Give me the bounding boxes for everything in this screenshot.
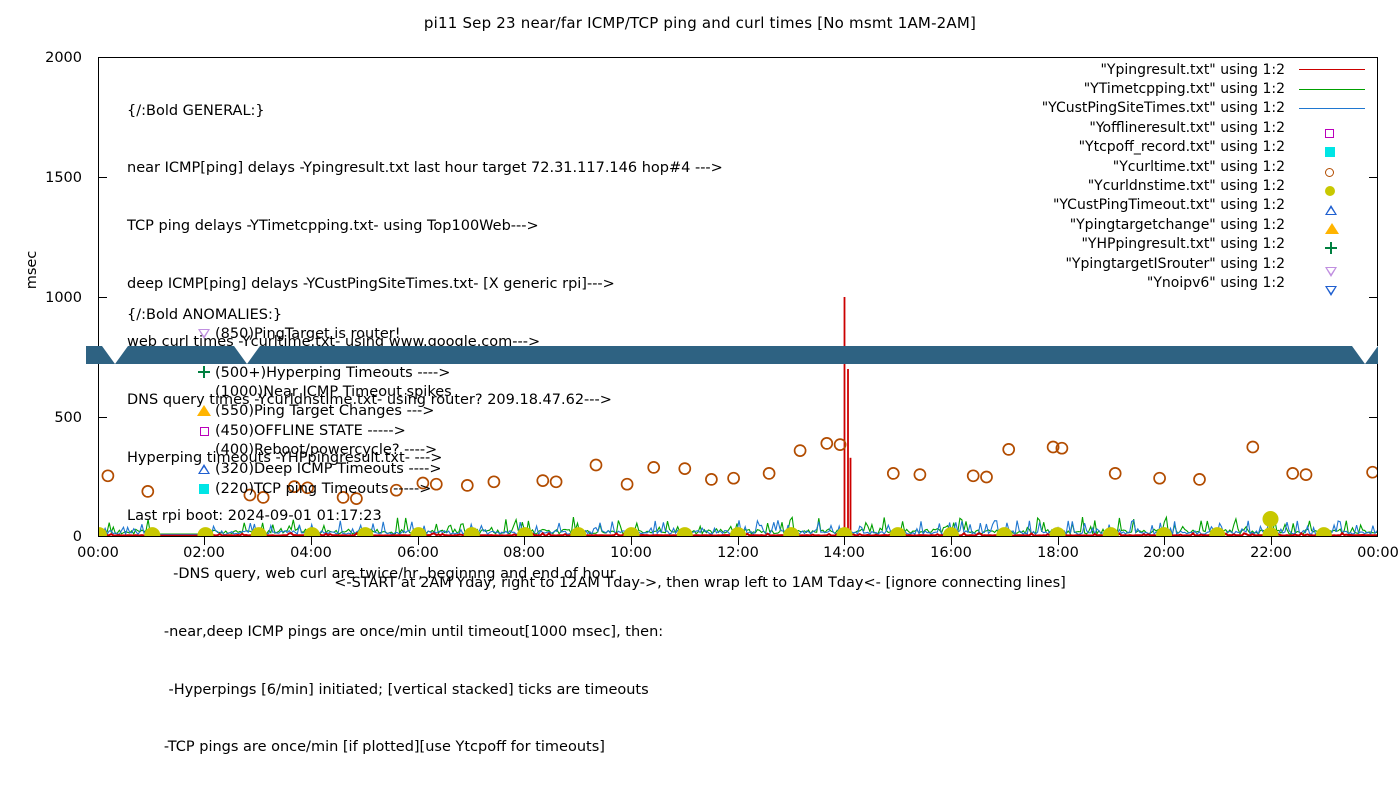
legend-label: "YTimetcpping.txt" using 1:2: [1084, 81, 1285, 97]
legend-key: [1291, 99, 1375, 118]
legend-key: [1291, 196, 1375, 215]
open-triangle-up-icon: [193, 461, 215, 480]
legend-entry: "YCustPingTimeout.txt" using 1:2: [905, 196, 1375, 215]
legend-key: [1291, 138, 1375, 157]
anomaly-label: (550)Ping Target Changes --->: [215, 403, 434, 419]
legend-label: "YCustPingSiteTimes.txt" using 1:2: [1042, 100, 1285, 116]
anomaly-label: (320)Deep ICMP Timeouts ---->: [215, 461, 442, 477]
x-tick-label: 22:00: [1226, 545, 1316, 561]
anomaly-item: (550)Ping Target Changes --->: [127, 402, 452, 421]
x-tick-label: 20:00: [1119, 545, 1209, 561]
legend-label: "Ynoipv6" using 1:2: [1147, 275, 1285, 291]
legend-entry: "YCustPingSiteTimes.txt" using 1:2: [905, 99, 1375, 118]
x-tick-label: 14:00: [799, 545, 889, 561]
legend-label: "Yofflineresult.txt" using 1:2: [1089, 120, 1285, 136]
legend-label: "Ycurltime.txt" using 1:2: [1113, 159, 1285, 175]
anomaly-item: (500+)Hyperping Timeouts ---->: [127, 364, 452, 383]
legend-entry: "YTimetcpping.txt" using 1:2: [905, 79, 1375, 98]
legend-label: "YpingtargetISrouter" using 1:2: [1065, 256, 1285, 272]
open-triangle-down-icon: [193, 326, 215, 345]
anomaly-label: (850)PingTarget is router!: [215, 326, 401, 342]
anomaly-item: (320)Deep ICMP Timeouts ---->: [127, 460, 452, 479]
y-tick-label: 0: [6, 529, 82, 545]
legend-label: "Ycurldnstime.txt" using 1:2: [1088, 178, 1285, 194]
open-triangle-down-icon: [1325, 282, 1337, 301]
general-line: -near,deep ICMP pings are once/min until…: [127, 623, 723, 642]
legend-label: "YCustPingTimeout.txt" using 1:2: [1053, 197, 1285, 213]
legend-key: [1291, 118, 1375, 137]
anomaly-label: (1000)Near ICMP Timeout spikes: [215, 384, 452, 400]
line-icon: [1299, 89, 1365, 90]
legend-entry: "YHPpingresult.txt" using 1:2: [905, 235, 1375, 254]
plus-icon: [193, 365, 215, 384]
filled-triangle-up-icon: [193, 403, 215, 422]
legend-key: [1291, 254, 1375, 273]
chart-legend: "Ypingresult.txt" using 1:2 "YTimetcppin…: [905, 60, 1375, 293]
anomaly-item: (1000)Near ICMP Timeout spikes: [127, 383, 452, 402]
legend-key: [1291, 235, 1375, 254]
legend-label: "Ytcpoff_record.txt" using 1:2: [1079, 139, 1285, 155]
x-tick-label: 18:00: [1013, 545, 1103, 561]
x-tick-label: 16:00: [906, 545, 996, 561]
y-tick-label: 1500: [6, 170, 82, 186]
chart-title: pi11 Sep 23 near/far ICMP/TCP ping and c…: [0, 14, 1400, 32]
line-icon: [1299, 69, 1365, 70]
general-line: near ICMP[ping] delays -Ypingresult.txt …: [127, 159, 723, 178]
anomaly-label: (220)TCP ping Timeouts ----->: [215, 481, 431, 497]
legend-label: "YHPpingresult.txt" using 1:2: [1081, 236, 1285, 252]
general-line: -Hyperpings [6/min] initiated; [vertical…: [127, 681, 723, 700]
legend-entry: "Ypingresult.txt" using 1:2: [905, 60, 1375, 79]
legend-key: [1291, 273, 1375, 292]
anomaly-label: (450)OFFLINE STATE ----->: [215, 423, 406, 439]
legend-key: [1291, 215, 1375, 234]
legend-key: [1291, 60, 1375, 79]
anomaly-label: (500+)Hyperping Timeouts ---->: [215, 365, 450, 381]
x-axis-caption: <-START at 2AM Yday, right to 12AM Tday-…: [0, 575, 1400, 591]
legend-key: [1291, 80, 1375, 99]
general-heading: {/:Bold GENERAL:}: [127, 102, 723, 121]
anomalies-heading: {/:Bold ANOMALIES:}: [127, 306, 452, 325]
x-tick-label: 00:00: [1333, 545, 1400, 561]
legend-label: "Ypingtargetchange" using 1:2: [1070, 217, 1285, 233]
legend-key: [1291, 157, 1375, 176]
legend-label: "Ypingresult.txt" using 1:2: [1100, 62, 1285, 78]
anomaly-item: (400)Reboot/powercycle? ---->: [127, 441, 452, 460]
y-tick-label: 2000: [6, 50, 82, 66]
general-line: TCP ping delays -YTimetcpping.txt- using…: [127, 217, 723, 236]
y-tick-label: 500: [6, 410, 82, 426]
general-line: -TCP pings are once/min [if plotted][use…: [127, 738, 723, 757]
general-line: Last rpi boot: 2024-09-01 01:17:23: [127, 507, 723, 526]
anomaly-item: (850)PingTarget is router!: [127, 325, 452, 344]
anomaly-item: (450)OFFLINE STATE ----->: [127, 422, 452, 441]
chart-canvas: pi11 Sep 23 near/far ICMP/TCP ping and c…: [0, 0, 1400, 600]
legend-entry: "Ypingtargetchange" using 1:2: [905, 215, 1375, 234]
line-icon: [1299, 108, 1365, 109]
legend-entry: "YpingtargetISrouter" using 1:2: [905, 254, 1375, 273]
legend-entry: "Ycurltime.txt" using 1:2: [905, 157, 1375, 176]
legend-entry: "Ynoipv6" using 1:2: [905, 273, 1375, 292]
y-tick-label: 1000: [6, 290, 82, 306]
anomaly-label: (400)Reboot/powercycle? ---->: [215, 442, 437, 458]
legend-key: [1291, 177, 1375, 196]
general-line: deep ICMP[ping] delays -YCustPingSiteTim…: [127, 275, 723, 294]
filled-square-icon: [193, 481, 215, 500]
legend-entry: "Yofflineresult.txt" using 1:2: [905, 118, 1375, 137]
selection-band-overlay[interactable]: [86, 346, 1378, 364]
legend-entry: "Ycurldnstime.txt" using 1:2: [905, 176, 1375, 195]
legend-entry: "Ytcpoff_record.txt" using 1:2: [905, 138, 1375, 157]
open-square-icon: [193, 423, 215, 442]
anomaly-item: (220)TCP ping Timeouts ----->: [127, 480, 452, 499]
anomalies-text-block: {/:Bold ANOMALIES:} (850)PingTarget is r…: [127, 306, 452, 499]
